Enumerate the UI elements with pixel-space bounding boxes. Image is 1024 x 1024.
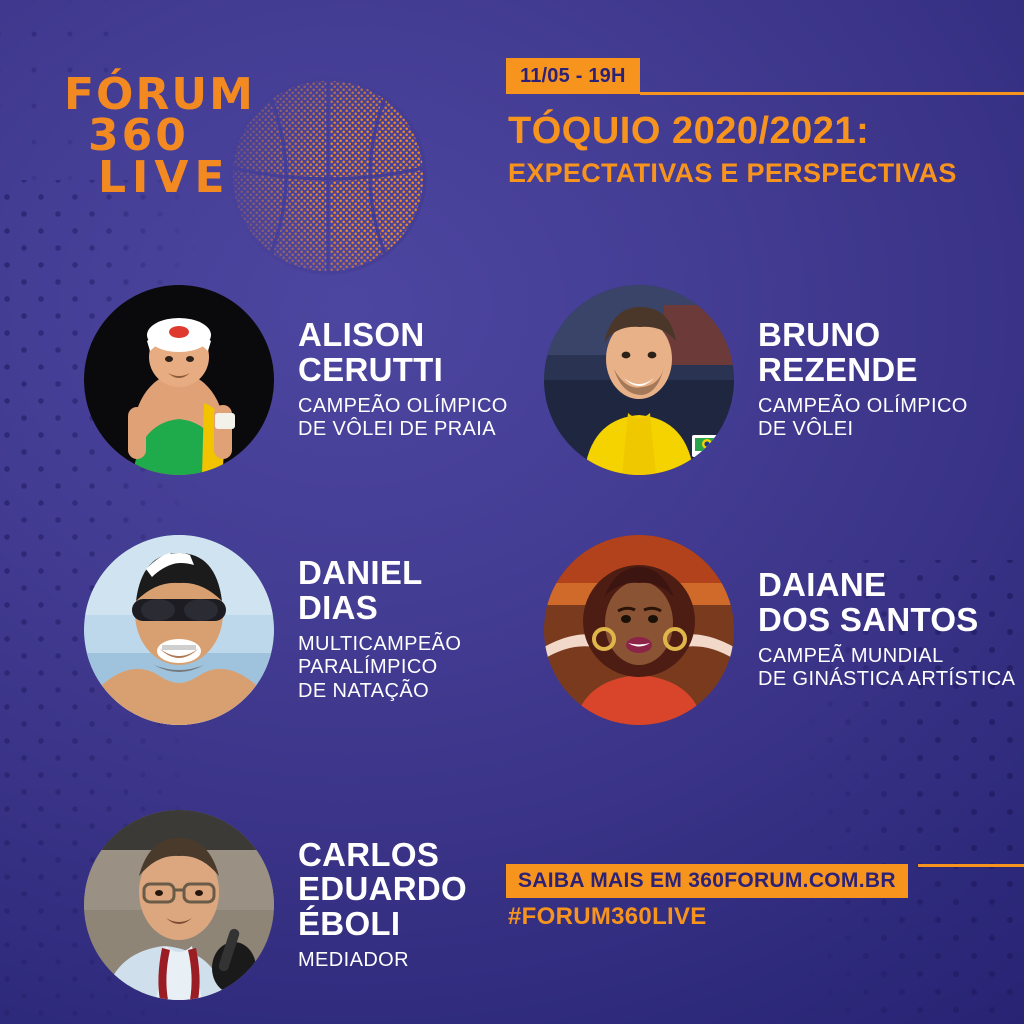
speaker-role-line-2: DE VÔLEI DE PRAIA	[298, 418, 508, 442]
avatar	[84, 285, 274, 475]
speaker-role: CAMPEÃO OLÍMPICO DE VÔLEI	[758, 395, 968, 442]
speaker-name-line-1: ALISON	[298, 318, 508, 353]
avatar	[84, 535, 274, 725]
speaker-name-line-2: EDUARDO	[298, 872, 467, 907]
event-date-badge: 11/05 - 19H	[506, 58, 640, 94]
speaker-role: MEDIADOR	[298, 949, 467, 973]
daiane-dos-santos-photo	[544, 535, 734, 725]
speaker-role: CAMPEÃO OLÍMPICO DE VÔLEI DE PRAIA	[298, 395, 508, 442]
speaker-card-bruno-rezende: BRUNO REZENDE CAMPEÃO OLÍMPICO DE VÔLEI	[544, 285, 968, 475]
logo-line-2: 360	[88, 115, 255, 156]
speaker-card-alison-cerutti: ALISON CERUTTI CAMPEÃO OLÍMPICO DE VÔLEI…	[84, 285, 508, 475]
speaker-info: DAIANE DOS SANTOS CAMPEÃ MUNDIAL DE GINÁ…	[758, 568, 1015, 691]
speaker-role-line-2: PARALÍMPICO	[298, 656, 461, 680]
cta-rule	[918, 864, 1024, 867]
speaker-name-line-1: DAIANE	[758, 568, 1015, 603]
event-subtitle: EXPECTATIVAS E PERSPECTIVAS	[508, 158, 957, 189]
logo-line-3: LIVE	[98, 157, 255, 198]
speaker-name-line-2: DOS SANTOS	[758, 603, 1015, 638]
speaker-info: DANIEL DIAS MULTICAMPEÃO PARALÍMPICO DE …	[298, 556, 461, 703]
carlos-eduardo-eboli-photo	[84, 810, 274, 1000]
speaker-name-line-2: CERUTTI	[298, 353, 508, 388]
speaker-name-line-3: ÉBOLI	[298, 907, 467, 942]
event-poster: FÓRUM 360 LIVE 11/05 - 19H TÓQUIO 2020/2…	[0, 0, 1024, 1024]
avatar	[84, 810, 274, 1000]
daniel-dias-photo	[84, 535, 274, 725]
speaker-role: CAMPEÃ MUNDIAL DE GINÁSTICA ARTÍSTICA	[758, 645, 1015, 692]
speaker-name-line-1: BRUNO	[758, 318, 968, 353]
speaker-card-daiane-dos-santos: DAIANE DOS SANTOS CAMPEÃ MUNDIAL DE GINÁ…	[544, 535, 1015, 725]
speaker-role-line-1: CAMPEÃO OLÍMPICO	[758, 395, 968, 419]
speaker-info: CARLOS EDUARDO ÉBOLI MEDIADOR	[298, 838, 467, 973]
speaker-name-line-2: DIAS	[298, 591, 461, 626]
speaker-role-line-1: MULTICAMPEÃO	[298, 633, 461, 657]
header-rule	[640, 92, 1024, 95]
cta-website-banner[interactable]: SAIBA MAIS EM 360FORUM.COM.BR	[506, 864, 908, 898]
speaker-name-line-2: REZENDE	[758, 353, 968, 388]
speaker-role-line-1: CAMPEÃO OLÍMPICO	[298, 395, 508, 419]
logo-line-1: FÓRUM	[64, 74, 255, 115]
speaker-role-line-2: DE GINÁSTICA ARTÍSTICA	[758, 668, 1015, 692]
speaker-name-line-1: CARLOS	[298, 838, 467, 873]
avatar	[544, 285, 734, 475]
event-title: TÓQUIO 2020/2021:	[508, 110, 869, 153]
event-hashtag: #FORUM360LIVE	[508, 903, 707, 931]
avatar	[544, 535, 734, 725]
speaker-card-daniel-dias: DANIEL DIAS MULTICAMPEÃO PARALÍMPICO DE …	[84, 535, 461, 725]
alison-cerutti-photo	[84, 285, 274, 475]
speaker-role-line-3: DE NATAÇÃO	[298, 680, 461, 704]
bruno-rezende-photo	[544, 285, 734, 475]
speaker-role-line-1: CAMPEÃ MUNDIAL	[758, 645, 1015, 669]
speaker-role: MULTICAMPEÃO PARALÍMPICO DE NATAÇÃO	[298, 633, 461, 704]
speaker-role-line-1: MEDIADOR	[298, 949, 467, 973]
speaker-name-line-1: DANIEL	[298, 556, 461, 591]
speaker-info: ALISON CERUTTI CAMPEÃO OLÍMPICO DE VÔLEI…	[298, 318, 508, 441]
speaker-role-line-2: DE VÔLEI	[758, 418, 968, 442]
speaker-card-carlos-eduardo-eboli: CARLOS EDUARDO ÉBOLI MEDIADOR	[84, 810, 467, 1000]
brand-logo: FÓRUM 360 LIVE	[60, 58, 420, 258]
speaker-info: BRUNO REZENDE CAMPEÃO OLÍMPICO DE VÔLEI	[758, 318, 968, 441]
